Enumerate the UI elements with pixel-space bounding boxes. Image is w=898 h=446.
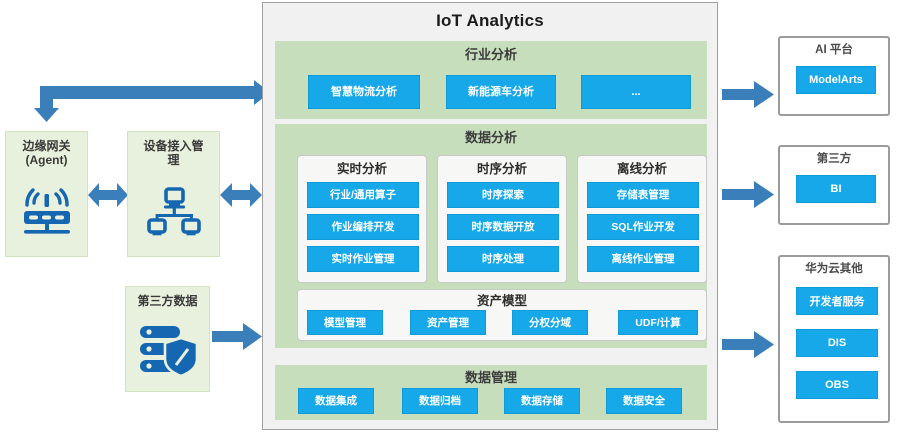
third-party-panel: 第三方 BI [778, 145, 890, 225]
subpanel-offline-analysis-title: 离线分析 [578, 161, 706, 178]
button-data-storage[interactable]: 数据存储 [504, 388, 580, 414]
arrow-device-platform-bidirectional [220, 182, 262, 208]
button-more-industry[interactable]: ... [581, 75, 691, 109]
subpanel-asset-model: 资产模型 模型管理 资产管理 分权分域 UDF/计算 [297, 289, 707, 341]
button-timeseries-processing[interactable]: 时序处理 [447, 246, 559, 272]
button-udf-compute[interactable]: UDF/计算 [618, 310, 698, 335]
third-party-data-title: 第三方数据 [137, 294, 197, 308]
subpanel-asset-model-title: 资产模型 [298, 293, 706, 310]
button-data-security[interactable]: 数据安全 [606, 388, 682, 414]
third-party-data-box[interactable]: 第三方数据 [125, 286, 210, 392]
button-offline-job-management[interactable]: 离线作业管理 [587, 246, 699, 272]
button-industry-general-operator[interactable]: 行业/通用算子 [307, 182, 419, 208]
button-developer-service[interactable]: 开发者服务 [796, 287, 878, 315]
subpanel-timeseries-analysis: 时序分析 时序探索 时序数据开放 时序处理 [437, 155, 567, 283]
band-data-analysis-title: 数据分析 [276, 129, 706, 147]
arrow-platform-to-third-party [722, 180, 774, 208]
button-model-management[interactable]: 模型管理 [307, 310, 383, 335]
database-shield-icon [137, 308, 199, 391]
band-industry-analysis: 行业分析 智慧物流分析 新能源车分析 ... [275, 41, 707, 119]
button-smart-logistics-analysis[interactable]: 智慧物流分析 [308, 75, 420, 109]
subpanel-timeseries-analysis-title: 时序分析 [438, 161, 566, 178]
page-title: IoT Analytics [263, 7, 717, 35]
arrow-platform-to-ai-platform [722, 80, 774, 108]
huawei-cloud-other-panel: 华为云其他 开发者服务 DIS OBS [778, 255, 890, 423]
button-timeseries-exploration[interactable]: 时序探索 [447, 182, 559, 208]
device-network-icon [143, 167, 205, 256]
subpanel-realtime-analysis-title: 实时分析 [298, 161, 426, 178]
button-modelarts[interactable]: ModelArts [796, 66, 876, 94]
subpanel-realtime-analysis: 实时分析 行业/通用算子 作业编排开发 实时作业管理 [297, 155, 427, 283]
button-dis[interactable]: DIS [796, 329, 878, 357]
button-job-orchestration-dev[interactable]: 作业编排开发 [307, 214, 419, 240]
arrow-elbow-edge-to-platform [8, 62, 270, 122]
button-new-energy-vehicle-analysis[interactable]: 新能源车分析 [446, 75, 556, 109]
huawei-cloud-other-title: 华为云其他 [805, 262, 863, 276]
band-data-management-title: 数据管理 [276, 369, 706, 387]
button-storage-table-management[interactable]: 存储表管理 [587, 182, 699, 208]
ai-platform-title: AI 平台 [815, 43, 853, 57]
button-realtime-job-management[interactable]: 实时作业管理 [307, 246, 419, 272]
button-asset-management[interactable]: 资产管理 [410, 310, 486, 335]
edge-gateway-title: 边缘网关 (Agent) [22, 139, 70, 167]
button-sql-job-development[interactable]: SQL作业开发 [587, 214, 699, 240]
ai-platform-panel: AI 平台 ModelArts [778, 36, 890, 116]
band-industry-analysis-title: 行业分析 [276, 46, 706, 64]
iot-analytics-panel: IoT Analytics 行业分析 智慧物流分析 新能源车分析 ... 数据分… [262, 2, 718, 430]
subpanel-offline-analysis: 离线分析 存储表管理 SQL作业开发 离线作业管理 [577, 155, 707, 283]
button-data-archiving[interactable]: 数据归档 [402, 388, 478, 414]
arrow-platform-to-huawei-cloud [722, 330, 774, 358]
third-party-title: 第三方 [817, 152, 852, 166]
button-permission-domain[interactable]: 分权分域 [512, 310, 588, 335]
device-access-title: 设备接入管 理 [143, 139, 203, 167]
button-obs[interactable]: OBS [796, 371, 878, 399]
button-timeseries-data-opening[interactable]: 时序数据开放 [447, 214, 559, 240]
edge-gateway-box[interactable]: 边缘网关 (Agent) [5, 131, 88, 257]
button-data-integration[interactable]: 数据集成 [298, 388, 374, 414]
device-access-box[interactable]: 设备接入管 理 [127, 131, 220, 257]
router-wifi-icon [18, 167, 76, 256]
button-bi[interactable]: BI [796, 175, 876, 203]
band-data-analysis: 数据分析 实时分析 行业/通用算子 作业编排开发 实时作业管理 时序分析 时序探… [275, 124, 707, 348]
band-data-management: 数据管理 数据集成 数据归档 数据存储 数据安全 [275, 365, 707, 420]
arrow-gateway-device-bidirectional [88, 182, 128, 208]
arrow-thirdparty-to-platform [212, 322, 262, 350]
